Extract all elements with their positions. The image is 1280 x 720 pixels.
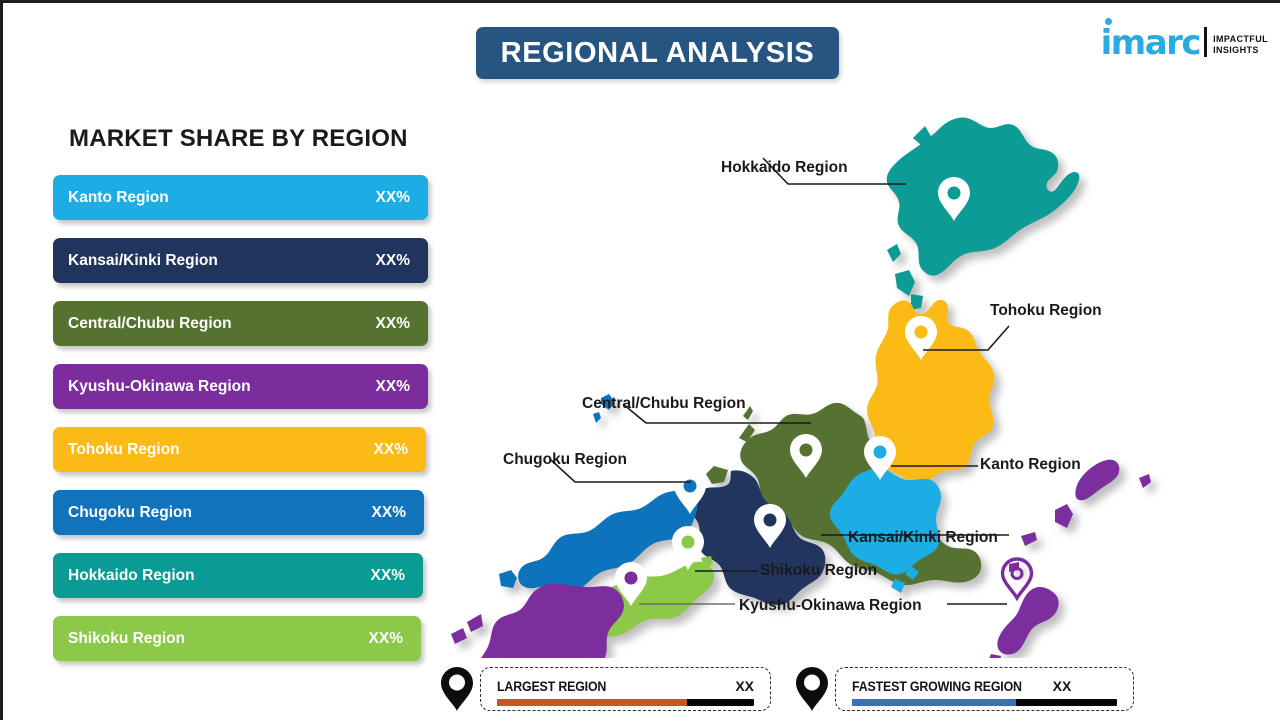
legend-row-central-chubu[interactable]: Central/Chubu Region XX%	[53, 301, 428, 346]
legend-row-kyushu-okinawa[interactable]: Kyushu-Okinawa Region XX%	[53, 364, 428, 409]
map-label-chugoku: Chugoku Region	[503, 451, 627, 469]
legend-label: Kansai/Kinki Region	[68, 252, 376, 270]
largest-region-progress-fill	[497, 699, 687, 706]
legend-row-shikoku[interactable]: Shikoku Region XX%	[53, 616, 421, 661]
map-region-hokkaido[interactable]	[887, 117, 1080, 310]
page-title-badge: REGIONAL ANALYSIS	[476, 27, 839, 79]
market-share-legend-list: Kanto Region XX% Kansai/Kinki Region XX%…	[53, 175, 433, 679]
legend-label: Chugoku Region	[68, 504, 372, 522]
map-label-chubu: Central/Chubu Region	[582, 395, 746, 413]
imarc-logo: imarc IMPACTFUL INSIGHTS	[1101, 19, 1268, 59]
map-label-kansai: Kansai/Kinki Region	[848, 529, 998, 547]
legend-row-kanto[interactable]: Kanto Region XX%	[53, 175, 428, 220]
legend-label: Central/Chubu Region	[68, 315, 376, 333]
fastest-growing-region-card: FASTEST GROWING REGION XX	[835, 667, 1134, 711]
map-label-shikoku: Shikoku Region	[760, 562, 877, 580]
map-label-tohoku: Tohoku Region	[990, 302, 1102, 320]
logo-tagline: IMPACTFUL INSIGHTS	[1213, 34, 1268, 57]
map-region-kyushu[interactable]	[451, 583, 624, 658]
logo-divider	[1204, 27, 1207, 57]
legend-value: XX%	[374, 441, 408, 459]
logo-tagline-line1: IMPACTFUL	[1213, 34, 1268, 45]
map-label-hokkaido: Hokkaido Region	[721, 159, 848, 177]
legend-label: Hokkaido Region	[68, 567, 371, 585]
largest-region-block: LARGEST REGION XX	[440, 665, 771, 713]
panel-title: MARKET SHARE BY REGION	[69, 125, 408, 153]
legend-value: XX%	[376, 315, 410, 333]
legend-row-hokkaido[interactable]: Hokkaido Region XX%	[53, 553, 423, 598]
legend-row-tohoku[interactable]: Tohoku Region XX%	[53, 427, 426, 472]
legend-value: XX%	[376, 189, 410, 207]
largest-region-value: XX	[735, 678, 754, 694]
logo-wordmark: imarc	[1101, 28, 1200, 59]
largest-region-progress-track	[497, 699, 754, 706]
slide-canvas: REGIONAL ANALYSIS imarc IMPACTFUL INSIGH…	[0, 0, 1280, 720]
fastest-growing-region-progress-track	[852, 699, 1117, 706]
legend-label: Shikoku Region	[68, 630, 369, 648]
map-label-kyushu-okinawa: Kyushu-Okinawa Region	[739, 597, 922, 615]
legend-value: XX%	[372, 504, 406, 522]
fastest-growing-region-caption: FASTEST GROWING REGION	[852, 679, 1022, 694]
legend-row-chugoku[interactable]: Chugoku Region XX%	[53, 490, 424, 535]
legend-label: Tohoku Region	[68, 441, 374, 459]
legend-value: XX%	[369, 630, 403, 648]
legend-value: XX%	[376, 378, 410, 396]
legend-label: Kanto Region	[68, 189, 376, 207]
largest-region-caption: LARGEST REGION	[497, 679, 606, 694]
fastest-growing-region-value: XX	[1053, 678, 1072, 694]
location-pin-icon	[795, 666, 829, 712]
logo-tagline-line2: INSIGHTS	[1213, 45, 1268, 56]
legend-label: Kyushu-Okinawa Region	[68, 378, 376, 396]
fastest-growing-region-progress-fill	[852, 699, 1016, 706]
legend-value: XX%	[376, 252, 410, 270]
legend-value: XX%	[371, 567, 405, 585]
logo-wordmark-text: imarc	[1101, 23, 1200, 63]
map-label-kanto: Kanto Region	[980, 456, 1081, 474]
fastest-growing-region-block: FASTEST GROWING REGION XX	[795, 665, 1134, 713]
largest-region-card: LARGEST REGION XX	[480, 667, 771, 711]
page-title: REGIONAL ANALYSIS	[501, 37, 815, 70]
location-pin-icon	[440, 666, 474, 712]
legend-row-kansai-kinki[interactable]: Kansai/Kinki Region XX%	[53, 238, 428, 283]
